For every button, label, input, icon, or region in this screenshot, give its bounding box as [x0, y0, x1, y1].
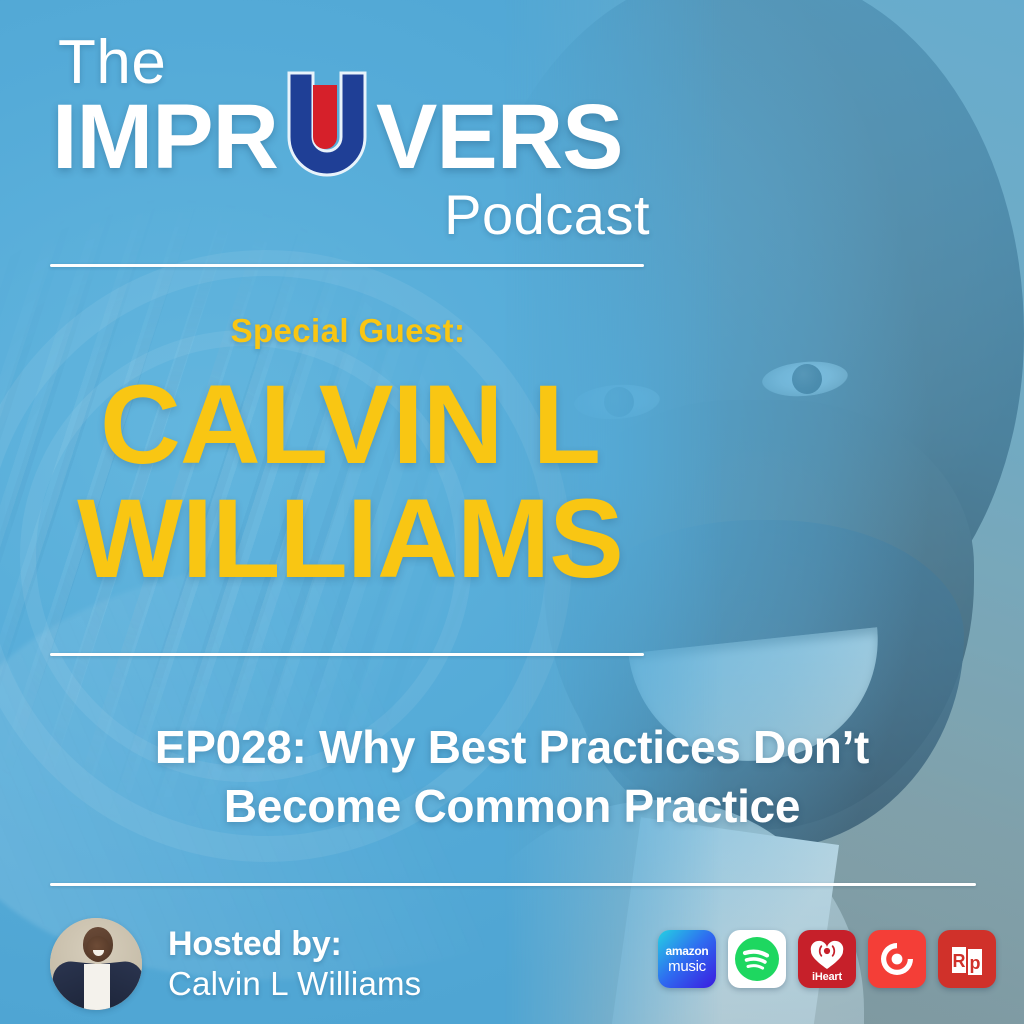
radiopublic-icon[interactable]: R p [938, 930, 996, 988]
avatar-face [86, 936, 110, 962]
podcast-cover-art: The IMPR VERS Podcast Special Guest: CAL… [0, 0, 1024, 1024]
host-section: Hosted by: Calvin L Williams [50, 918, 421, 1010]
guest-name: CALVIN L WILLIAMS [40, 368, 660, 596]
pocket-casts-icon[interactable] [868, 930, 926, 988]
cover-content: The IMPR VERS Podcast Special Guest: CAL… [0, 0, 1024, 1024]
spotify-icon[interactable] [728, 930, 786, 988]
svg-text:R: R [953, 951, 966, 971]
logo-impr-text: IMPR [52, 91, 278, 183]
amazon-music-label-line2: music [666, 959, 709, 974]
special-guest-label: Special Guest: [50, 312, 646, 350]
host-name: Calvin L Williams [168, 964, 421, 1004]
amazon-music-label: amazon music [666, 945, 709, 974]
divider-middle [50, 653, 644, 656]
host-text-block: Hosted by: Calvin L Williams [168, 925, 421, 1004]
episode-title-line-2: Become Common Practice [42, 777, 982, 836]
episode-title: EP028: Why Best Practices Don’t Become C… [42, 718, 982, 836]
podcast-logo: The IMPR VERS Podcast [52, 34, 652, 243]
avatar [50, 918, 142, 1010]
svg-text:p: p [970, 953, 981, 973]
amazon-music-icon[interactable]: amazon music [658, 930, 716, 988]
divider-top [50, 264, 644, 267]
logo-wordmark: IMPR VERS [52, 89, 652, 185]
guest-name-line-2: WILLIAMS [40, 482, 660, 596]
iheart-icon[interactable]: iHeart [798, 930, 856, 988]
avatar-shirt [84, 964, 110, 1010]
platform-badges: amazon music iHeart [658, 930, 996, 988]
iheart-label: iHeart [798, 971, 856, 983]
logo-podcast-text: Podcast [52, 187, 650, 243]
logo-u-icon [279, 69, 375, 187]
divider-bottom [50, 883, 976, 886]
amazon-music-label-line1: amazon [666, 945, 709, 957]
guest-name-line-1: CALVIN L [40, 368, 660, 482]
episode-title-line-1: EP028: Why Best Practices Don’t [42, 718, 982, 777]
hosted-by-label: Hosted by: [168, 925, 421, 964]
logo-vers-text: VERS [376, 91, 623, 183]
